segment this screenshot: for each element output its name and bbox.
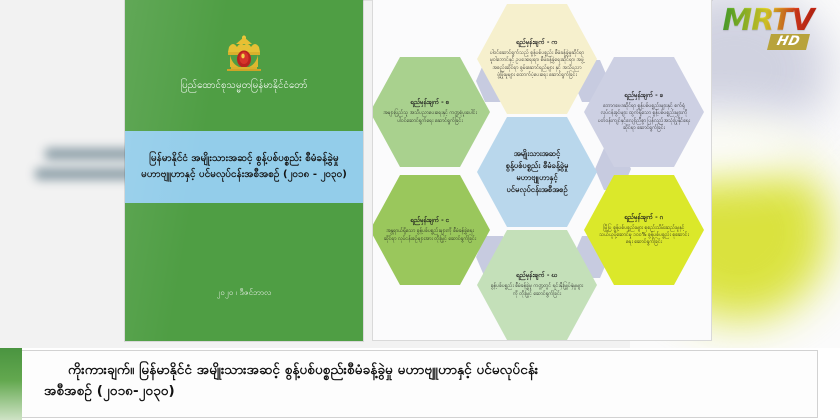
hex-node-center[interactable]: အမျိုးသားအဆင့် စွန့်ပစ်ပစ္စည်း စီမံခန့်ခ… — [477, 117, 597, 227]
hex-node-center-body: အမျိုးသားအဆင့် စွန့်ပစ်ပစ္စည်း စီမံခန့်ခ… — [506, 148, 569, 197]
broadcast-screen: ပြည်ထောင်စုသမ္မတမြန်မာနိုင်ငံတော် မြန်မာ… — [0, 0, 840, 420]
caption-bar: ကိုးကားချက်။ မြန်မာနိုင်ငံ အမျိုးသားအဆင့… — [0, 348, 840, 420]
hex-node-right-bottom-heading: ရည်မှန်းချက် - ဂ — [625, 214, 664, 223]
hex-node-bottom-heading: ရည်မှန်းချက် - ဃ — [516, 272, 557, 281]
cover-title-line-1: မြန်မာနိုင်ငံ အမျိုးသားအဆင့် စွန့်ပစ်ပစ္… — [141, 151, 347, 168]
hex-node-left-bottom-body: အန္တရာယ်ရှိသော စွန့်ပစ်ပစ္စည်းများကို စီ… — [382, 228, 478, 243]
hex-node-right-top-heading: ရည်မှန်းချက် - ခ — [625, 92, 664, 101]
hex-node-right-bottom-body: မြို့ပြ စွန့်ပစ်ပစ္စည်းများ စုစည်းသိမ်းဆ… — [596, 225, 692, 247]
center-line-2: စွန့်ပစ်ပစ္စည်း စီမံခန့်ခွဲမှု — [506, 160, 569, 172]
caption-text-box: ကိုးကားချက်။ မြန်မာနိုင်ငံ အမျိုးသားအဆင့… — [22, 350, 818, 418]
hex-node-bottom-body: စွန့်ပစ်ပစ္စည်း စီမံခန့်ခွဲမှု ကဏ္ဍတွင် … — [489, 283, 585, 298]
cover-date: ၂၀၂၀ ၊ ဒီဇင်ဘာလ — [125, 287, 363, 299]
cover-title-line-2: မဟာဗျူဟာနှင့် ပင်မလုပ်ငန်းအစီအစဉ် (၂၀၁၈ … — [141, 167, 347, 184]
center-line-4: ပင်မလုပ်ငန်းအစီအစဉ် — [506, 184, 569, 196]
center-line-1: အမျိုးသားအဆင့် — [506, 148, 569, 160]
caption-accent-stripe — [0, 348, 22, 420]
cover-title-band: မြန်မာနိုင်ငံ အမျိုးသားအဆင့် စွန့်ပစ်ပစ္… — [125, 131, 363, 203]
document-cover: ပြည်ထောင်စုသမ္မတမြန်မာနိုင်ငံတော် မြန်မာ… — [125, 0, 363, 341]
hex-node-right-top-body: ဘောဂဗေဒဆိုင်ရာ စွန့်ပစ်ပစ္စည်းများနှင့် … — [596, 103, 692, 132]
hex-node-left-top-heading: ရည်မှန်းချက် - စ — [411, 99, 450, 108]
myanmar-state-seal-icon — [217, 34, 271, 74]
hd-badge: HD — [767, 34, 810, 50]
mrtv-wordmark: MRTV — [710, 6, 826, 36]
cover-government-line: ပြည်ထောင်စုသမ္မတမြန်မာနိုင်ငံတော် — [125, 80, 363, 92]
caption-line-2: အစီအစဉ် (၂၀၁၈-၂၀၃၀) — [44, 381, 803, 402]
strategy-hexagon-diagram: ရည်မှန်းချက် - က ပါဝင်ဆောင်ရွက်သည့် စွန့… — [372, 0, 712, 341]
hex-node-left-top-body: အများပြည်သူ အသိပညာပေးရေးနှင့် ကဏ္ဍစုံပူး… — [382, 110, 478, 125]
hex-node-left-bottom[interactable]: ရည်မှန်းချက် - င အန္တရာယ်ရှိသော စွန့်ပစ်… — [372, 175, 490, 285]
cover-title: မြန်မာနိုင်ငံ အမျိုးသားအဆင့် စွန့်ပစ်ပစ္… — [129, 151, 359, 184]
hex-node-top-body: ပါဝင်ဆောင်ရွက်သည့် စွန့်ပစ်ပစ္စည်း စီမံခ… — [489, 50, 585, 79]
hex-node-left-bottom-heading: ရည်မှန်းချက် - င — [411, 217, 450, 226]
caption-line-1: ကိုးကားချက်။ မြန်မာနိုင်ငံ အမျိုးသားအဆင့… — [44, 360, 803, 381]
mrtv-channel-logo: MRTV HD — [710, 6, 826, 54]
hex-node-left-top[interactable]: ရည်မှန်းချက် - စ အများပြည်သူ အသိပညာပေးရေ… — [372, 57, 490, 167]
hex-node-top-heading: ရည်မှန်းချက် - က — [516, 39, 557, 48]
center-line-3: မဟာဗျူဟာနှင့် — [506, 172, 569, 184]
